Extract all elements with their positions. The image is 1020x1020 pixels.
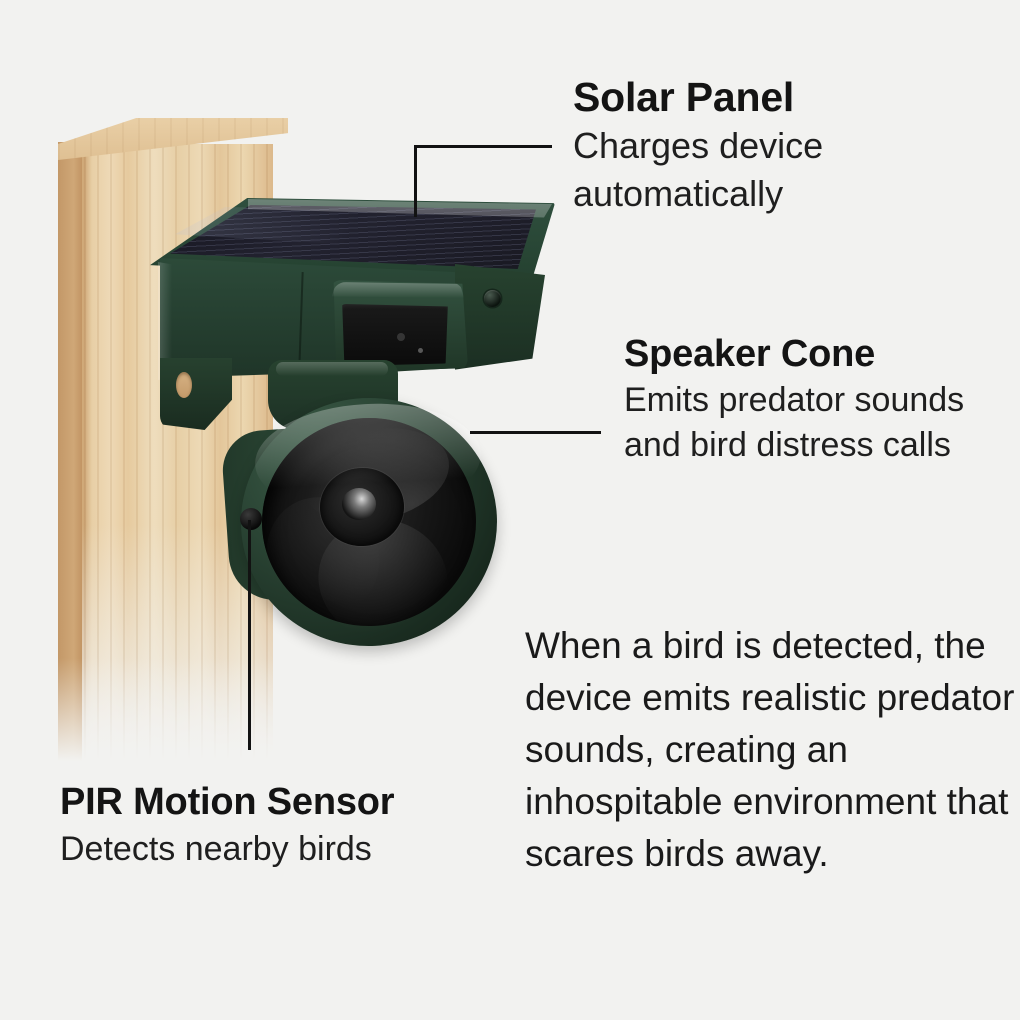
callout-solar-panel-title: Solar Panel — [573, 72, 1003, 122]
product-photo — [0, 0, 540, 800]
callout-speaker-cone-description: Emits predator sounds and bird distress … — [624, 378, 1014, 468]
callout-pir-motion-sensor-title: PIR Motion Sensor — [60, 778, 530, 826]
leader-line-pir — [248, 520, 251, 750]
mounting-bracket-hole — [176, 372, 192, 398]
callout-pir-motion-sensor-description: Detects nearby birds — [60, 826, 530, 872]
summary-text: When a bird is detected, the device emit… — [525, 620, 1015, 880]
speaker-housing-knob — [240, 508, 262, 530]
leader-line-solar-horizontal — [414, 145, 552, 148]
speaker-neck-highlight — [276, 362, 388, 376]
bird-repeller-device — [0, 0, 540, 680]
callout-solar-panel: Solar Panel Charges device automatically — [573, 72, 1003, 218]
pir-sensor-housing-highlight — [332, 282, 464, 298]
mounting-bracket — [160, 358, 232, 430]
pir-sensor-indicator-dot — [418, 348, 423, 353]
pir-sensor-window — [340, 304, 450, 366]
leader-line-speaker — [470, 431, 601, 434]
device-body-right-panel — [455, 264, 545, 374]
leader-line-solar-vertical — [414, 145, 417, 217]
callout-speaker-cone: Speaker Cone Emits predator sounds and b… — [624, 330, 1014, 468]
callout-solar-panel-description: Charges device automatically — [573, 122, 1003, 218]
summary-paragraph: When a bird is detected, the device emit… — [525, 620, 1015, 880]
side-button-icon — [484, 290, 501, 307]
infographic-stage: Solar Panel Charges device automatically… — [0, 0, 1020, 1020]
callout-speaker-cone-title: Speaker Cone — [624, 330, 1014, 378]
callout-pir-motion-sensor: PIR Motion Sensor Detects nearby birds — [60, 778, 530, 872]
